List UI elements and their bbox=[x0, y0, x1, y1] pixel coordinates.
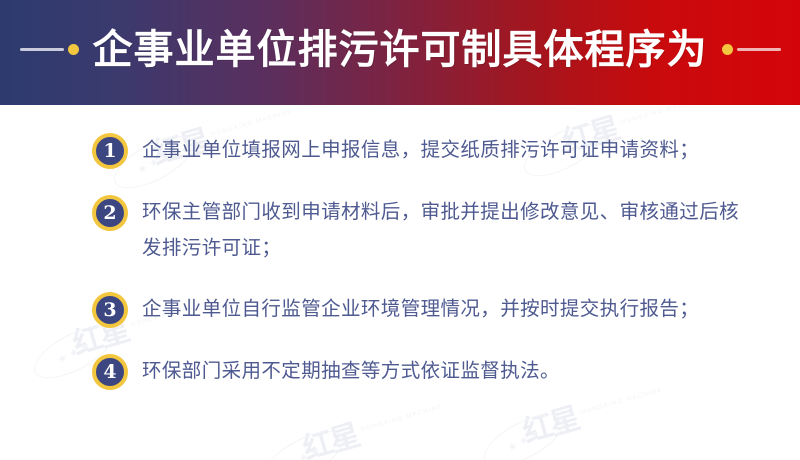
infographic-page: ★ ★ ★ 红星 HONGXING MACHINE ★ ★ ★ 红星 HONGX… bbox=[0, 0, 800, 460]
step-number-badge: 2 bbox=[92, 195, 128, 231]
decoration-dot-icon bbox=[68, 44, 79, 55]
step-text: 企事业单位自行监管企业环境管理情况，并按时提交执行报告； bbox=[142, 291, 699, 327]
watermark-mark: 红星 bbox=[297, 410, 363, 460]
step-text: 环保主管部门收到申请材料后，审批并提出修改意见、审核通过后核发排污许可证； bbox=[142, 194, 742, 266]
watermark-star-ellipse: ★ ★ ★ bbox=[476, 404, 571, 460]
watermark-mark: 红星 bbox=[517, 393, 583, 451]
decoration-right bbox=[722, 44, 781, 55]
page-title: 企事业单位排污许可制具体程序为 bbox=[93, 30, 708, 70]
watermark-stars: ★ ★ ★ bbox=[285, 443, 323, 460]
step-number-badge: 1 bbox=[92, 133, 128, 169]
step-text: 环保部门采用不定期抽查等方式依证监督执法。 bbox=[142, 353, 560, 389]
watermark-stars: ★ ★ ★ bbox=[505, 426, 543, 454]
list-item: 1 企事业单位填报网上申报信息，提交纸质排污许可证申请资料； bbox=[0, 132, 800, 169]
steps-list: 1 企事业单位填报网上申报信息，提交纸质排污许可证申请资料； 2 环保主管部门收… bbox=[0, 105, 800, 390]
watermark: ★ ★ ★ 红星 HONGXING MACHINE bbox=[297, 386, 449, 460]
list-item: 2 环保主管部门收到申请材料后，审批并提出修改意见、审核通过后核发排污许可证； bbox=[0, 194, 800, 266]
decoration-line-icon bbox=[737, 48, 781, 51]
step-number-badge: 3 bbox=[92, 292, 128, 328]
step-text: 企事业单位填报网上申报信息，提交纸质排污许可证申请资料； bbox=[142, 132, 699, 168]
decoration-line-icon bbox=[20, 48, 64, 51]
watermark-sub: HONGXING MACHINE bbox=[361, 404, 444, 433]
watermark-sub: HONGXING MACHINE bbox=[581, 387, 664, 416]
header-banner: 企事业单位排污许可制具体程序为 bbox=[0, 0, 800, 105]
list-item: 4 环保部门采用不定期抽查等方式依证监督执法。 bbox=[0, 353, 800, 390]
decoration-dot-icon bbox=[722, 44, 733, 55]
list-item: 3 企事业单位自行监管企业环境管理情况，并按时提交执行报告； bbox=[0, 291, 800, 328]
decoration-left bbox=[20, 44, 79, 55]
watermark-star-ellipse: ★ ★ ★ bbox=[256, 421, 351, 460]
step-number-badge: 4 bbox=[92, 354, 128, 390]
